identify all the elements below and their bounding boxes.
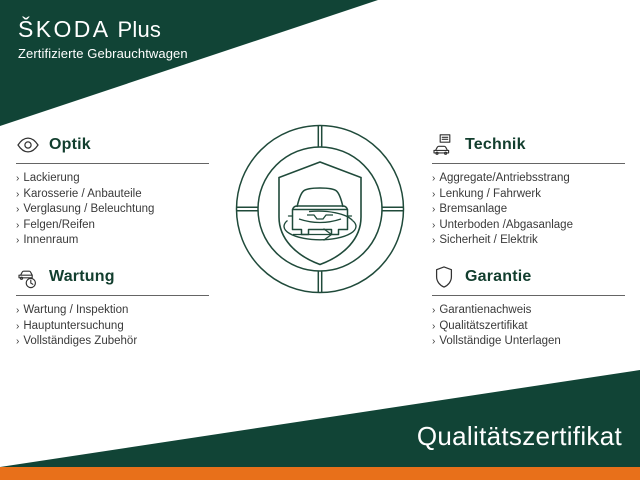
- list-item: ›Verglasung / Beleuchtung: [16, 202, 212, 218]
- section-divider-garantie: [432, 295, 625, 296]
- list-item: ›Vollständiges Zubehör: [16, 334, 212, 350]
- chevron-right-icon: ›: [16, 319, 19, 335]
- list-item: ›Sicherheit / Elektrik: [432, 233, 628, 249]
- list-item: ›Hauptuntersuchung: [16, 319, 212, 335]
- list-item-label: Bremsanlage: [439, 202, 507, 218]
- list-item: ›Wartung / Inspektion: [16, 303, 212, 319]
- section-header-wartung: Wartung: [16, 264, 212, 290]
- list-item-label: Innenraum: [23, 233, 78, 249]
- quality-certificate-page: ŠKODA Plus Zertifizierte Gebrauchtwagen …: [0, 0, 640, 480]
- section-garantie: Garantie ›Garantienachweis ›Qualitätszer…: [432, 264, 628, 350]
- chevron-right-icon: ›: [432, 319, 435, 335]
- chevron-right-icon: ›: [432, 171, 435, 187]
- brand-tagline: Zertifizierte Gebrauchtwagen: [18, 46, 188, 61]
- list-item-label: Qualitätszertifikat: [439, 319, 527, 335]
- shield-icon: [432, 265, 456, 289]
- chevron-right-icon: ›: [16, 171, 19, 187]
- list-item-label: Sicherheit / Elektrik: [439, 233, 537, 249]
- section-title-wartung: Wartung: [49, 268, 115, 286]
- chevron-right-icon: ›: [432, 218, 435, 234]
- list-item: ›Karosserie / Anbauteile: [16, 187, 212, 203]
- list-item-label: Karosserie / Anbauteile: [23, 187, 141, 203]
- section-list-technik: ›Aggregate/Antriebsstrang ›Lenkung / Fah…: [432, 171, 628, 249]
- list-item: ›Aggregate/Antriebsstrang: [432, 171, 628, 187]
- list-item-label: Wartung / Inspektion: [23, 303, 128, 319]
- list-item: ›Qualitätszertifikat: [432, 319, 628, 335]
- orange-accent-strip: [0, 467, 640, 480]
- list-item-label: Aggregate/Antriebsstrang: [439, 171, 569, 187]
- brand-logo: ŠKODA Plus: [18, 16, 188, 43]
- list-item-label: Felgen/Reifen: [23, 218, 95, 234]
- section-list-garantie: ›Garantienachweis ›Qualitätszertifikat ›…: [432, 303, 628, 350]
- car-document-icon: [432, 133, 456, 157]
- chevron-right-icon: ›: [16, 187, 19, 203]
- section-header-technik: Technik: [432, 132, 628, 158]
- list-item: ›Lackierung: [16, 171, 212, 187]
- chevron-right-icon: ›: [432, 233, 435, 249]
- eye-icon: [16, 133, 40, 157]
- list-item-label: Unterboden /Abgasanlage: [439, 218, 573, 234]
- list-item: ›Innenraum: [16, 233, 212, 249]
- chevron-right-icon: ›: [432, 202, 435, 218]
- list-item: ›Vollständige Unterlagen: [432, 334, 628, 350]
- section-technik: Technik ›Aggregate/Antriebsstrang ›Lenku…: [432, 132, 628, 249]
- section-optik: Optik ›Lackierung ›Karosserie / Anbautei…: [16, 132, 212, 249]
- section-header-garantie: Garantie: [432, 264, 628, 290]
- list-item: ›Lenkung / Fahrwerk: [432, 187, 628, 203]
- chevron-right-icon: ›: [16, 218, 19, 234]
- chevron-right-icon: ›: [16, 334, 19, 350]
- section-list-wartung: ›Wartung / Inspektion ›Hauptuntersuchung…: [16, 303, 212, 350]
- list-item: ›Unterboden /Abgasanlage: [432, 218, 628, 234]
- section-title-technik: Technik: [465, 136, 526, 154]
- section-wartung: Wartung ›Wartung / Inspektion ›Hauptunte…: [16, 264, 212, 350]
- section-divider-wartung: [16, 295, 209, 296]
- list-item-label: Verglasung / Beleuchtung: [23, 202, 154, 218]
- chevron-right-icon: ›: [432, 334, 435, 350]
- section-divider-technik: [432, 163, 625, 164]
- list-item-label: Garantienachweis: [439, 303, 531, 319]
- list-item: ›Garantienachweis: [432, 303, 628, 319]
- brand-header: ŠKODA Plus Zertifizierte Gebrauchtwagen: [18, 16, 188, 61]
- section-list-optik: ›Lackierung ›Karosserie / Anbauteile ›Ve…: [16, 171, 212, 249]
- list-item-label: Hauptuntersuchung: [23, 319, 123, 335]
- section-header-optik: Optik: [16, 132, 212, 158]
- list-item: ›Bremsanlage: [432, 202, 628, 218]
- shield-car-rings-emblem: [235, 124, 405, 294]
- section-title-optik: Optik: [49, 136, 91, 154]
- list-item: ›Felgen/Reifen: [16, 218, 212, 234]
- brand-suffix: Plus: [118, 17, 162, 43]
- list-item-label: Vollständige Unterlagen: [439, 334, 560, 350]
- chevron-right-icon: ›: [16, 233, 19, 249]
- chevron-right-icon: ›: [16, 303, 19, 319]
- list-item-label: Lackierung: [23, 171, 79, 187]
- section-divider-optik: [16, 163, 209, 164]
- list-item-label: Lenkung / Fahrwerk: [439, 187, 541, 203]
- list-item-label: Vollständiges Zubehör: [23, 334, 137, 350]
- chevron-right-icon: ›: [432, 187, 435, 203]
- chevron-right-icon: ›: [432, 303, 435, 319]
- page-title: Qualitätszertifikat: [417, 421, 622, 452]
- section-title-garantie: Garantie: [465, 268, 532, 286]
- car-service-clock-icon: [16, 265, 40, 289]
- chevron-right-icon: ›: [16, 202, 19, 218]
- brand-name: ŠKODA: [18, 16, 111, 43]
